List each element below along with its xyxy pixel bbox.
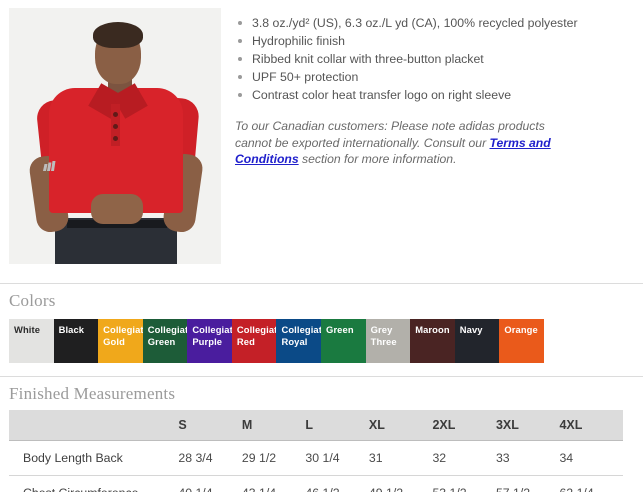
product-photo-illustration	[9, 8, 221, 264]
measurement-value: 28 3/4	[178, 441, 242, 476]
color-swatch[interactable]: Navy	[455, 319, 500, 363]
spec-bullet-list: 3.8 oz./yd² (US), 6.3 oz./L yd (CA), 100…	[235, 14, 631, 104]
list-item: Hydrophilic finish	[235, 32, 631, 50]
measurement-value: 46 1/2	[305, 476, 369, 492]
adidas-logo-icon	[43, 158, 57, 168]
list-item: Ribbed knit collar with three-button pla…	[235, 50, 631, 68]
measurement-label: Body Length Back	[9, 441, 178, 476]
column-header-size: 3XL	[496, 410, 560, 441]
measurement-value: 32	[432, 441, 496, 476]
color-swatch-label: Green	[326, 324, 362, 336]
measurement-value: 29 1/2	[242, 441, 306, 476]
color-swatch[interactable]: Collegiate Red	[232, 319, 277, 363]
measurement-label: Chest Circumference	[9, 476, 178, 492]
column-header-size: XL	[369, 410, 433, 441]
bullet-icon	[238, 21, 242, 25]
measurement-value: 34	[559, 441, 623, 476]
color-swatch-label: Collegiate Green	[148, 324, 184, 347]
color-swatch[interactable]: Maroon	[410, 319, 455, 363]
table-header-row: SMLXL2XL3XL4XL	[9, 410, 623, 441]
color-swatch-label: Collegiate Royal	[281, 324, 317, 347]
measurements-table: SMLXL2XL3XL4XL Body Length Back28 3/429 …	[9, 410, 623, 492]
note-text-after: section for more information.	[299, 152, 457, 166]
column-header-size: 4XL	[559, 410, 623, 441]
bullet-icon	[238, 93, 242, 97]
color-swatch[interactable]: Green	[321, 319, 366, 363]
column-header-size: L	[305, 410, 369, 441]
measurement-value: 33	[496, 441, 560, 476]
measurement-value: 62 1/4	[559, 476, 623, 492]
color-swatch-label: Orange	[504, 324, 540, 336]
list-item: Contrast color heat transfer logo on rig…	[235, 86, 631, 104]
list-item: UPF 50+ protection	[235, 68, 631, 86]
spec-text: 3.8 oz./yd² (US), 6.3 oz./L yd (CA), 100…	[252, 16, 578, 30]
bullet-icon	[238, 57, 242, 61]
measurement-value: 43 1/4	[242, 476, 306, 492]
column-header-measurement	[9, 410, 178, 441]
measurement-value: 30 1/4	[305, 441, 369, 476]
spec-text: Ribbed knit collar with three-button pla…	[252, 52, 484, 66]
color-swatch[interactable]: Collegiate Green	[143, 319, 188, 363]
color-swatch[interactable]: Black	[54, 319, 99, 363]
list-item: 3.8 oz./yd² (US), 6.3 oz./L yd (CA), 100…	[235, 14, 631, 32]
product-overview: 3.8 oz./yd² (US), 6.3 oz./L yd (CA), 100…	[0, 0, 643, 264]
table-row: Body Length Back28 3/429 1/230 1/4313233…	[9, 441, 623, 476]
color-swatch-label: Grey Three	[371, 324, 407, 347]
measurement-value: 53 1/2	[432, 476, 496, 492]
color-swatch-row: WhiteBlackCollegiate GoldCollegiate Gree…	[9, 319, 544, 363]
color-swatch[interactable]: Collegiate Purple	[187, 319, 232, 363]
canadian-customers-note: To our Canadian customers: Please note a…	[235, 118, 580, 168]
measurement-value: 40 1/4	[178, 476, 242, 492]
column-header-size: S	[178, 410, 242, 441]
color-swatch[interactable]: White	[9, 319, 54, 363]
table-body: Body Length Back28 3/429 1/230 1/4313233…	[9, 441, 623, 492]
table-row: Chest Circumference40 1/443 1/446 1/249 …	[9, 476, 623, 492]
column-header-size: M	[242, 410, 306, 441]
color-swatch[interactable]: Orange	[499, 319, 544, 363]
color-swatch[interactable]: Grey Three	[366, 319, 411, 363]
bullet-icon	[238, 39, 242, 43]
color-swatch-label: Collegiate Red	[237, 324, 273, 347]
color-swatch-label: Navy	[460, 324, 496, 336]
measurement-value: 57 1/2	[496, 476, 560, 492]
table-header: SMLXL2XL3XL4XL	[9, 410, 623, 441]
color-swatch[interactable]: Collegiate Royal	[276, 319, 321, 363]
measurements-table-wrapper: SMLXL2XL3XL4XL Body Length Back28 3/429 …	[9, 410, 623, 492]
spec-text: Contrast color heat transfer logo on rig…	[252, 88, 511, 102]
color-swatch-label: Collegiate Gold	[103, 324, 139, 347]
product-detail-page: 3.8 oz./yd² (US), 6.3 oz./L yd (CA), 100…	[0, 0, 643, 492]
color-swatch-label: Maroon	[415, 324, 451, 336]
colors-heading: Colors	[0, 284, 643, 317]
spec-text: UPF 50+ protection	[252, 70, 358, 84]
product-specifications: 3.8 oz./yd² (US), 6.3 oz./L yd (CA), 100…	[221, 8, 643, 168]
color-swatch-label: Black	[59, 324, 95, 336]
spec-text: Hydrophilic finish	[252, 34, 345, 48]
bullet-icon	[238, 75, 242, 79]
measurement-value: 49 1/2	[369, 476, 433, 492]
product-image[interactable]	[9, 8, 221, 264]
color-swatch-label: White	[14, 324, 50, 336]
measurements-heading: Finished Measurements	[0, 377, 643, 410]
color-swatch-label: Collegiate Purple	[192, 324, 228, 347]
column-header-size: 2XL	[432, 410, 496, 441]
measurement-value: 31	[369, 441, 433, 476]
color-swatch[interactable]: Collegiate Gold	[98, 319, 143, 363]
